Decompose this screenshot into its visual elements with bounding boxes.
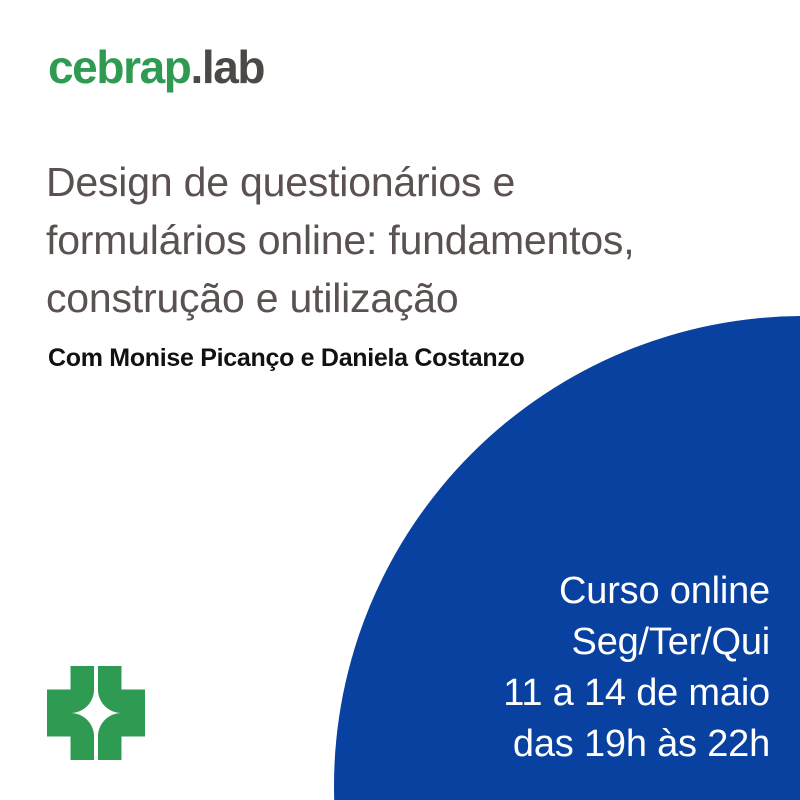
course-poster: cebrap.lab Design de questionários e for…: [0, 0, 800, 800]
title-line-2: formulários online: fundamentos,: [46, 211, 766, 269]
page-title: Design de questionários e formulários on…: [46, 153, 766, 327]
title-line-3: construção e utilização: [46, 269, 766, 327]
detail-format: Curso online: [503, 566, 770, 617]
brand-wordmark: cebrap.lab: [48, 44, 264, 90]
brand-name-primary: cebrap: [48, 41, 190, 93]
instructors-line: Com Monise Picanço e Daniela Costanzo: [48, 343, 525, 373]
detail-days: Seg/Ter/Qui: [503, 617, 770, 668]
detail-time: das 19h às 22h: [503, 719, 770, 770]
brand-name-secondary: .lab: [190, 41, 264, 93]
detail-dates: 11 a 14 de maio: [503, 668, 770, 719]
clover-flower-icon: [47, 664, 145, 762]
course-details: Curso online Seg/Ter/Qui 11 a 14 de maio…: [503, 566, 770, 770]
title-line-1: Design de questionários e: [46, 153, 766, 211]
